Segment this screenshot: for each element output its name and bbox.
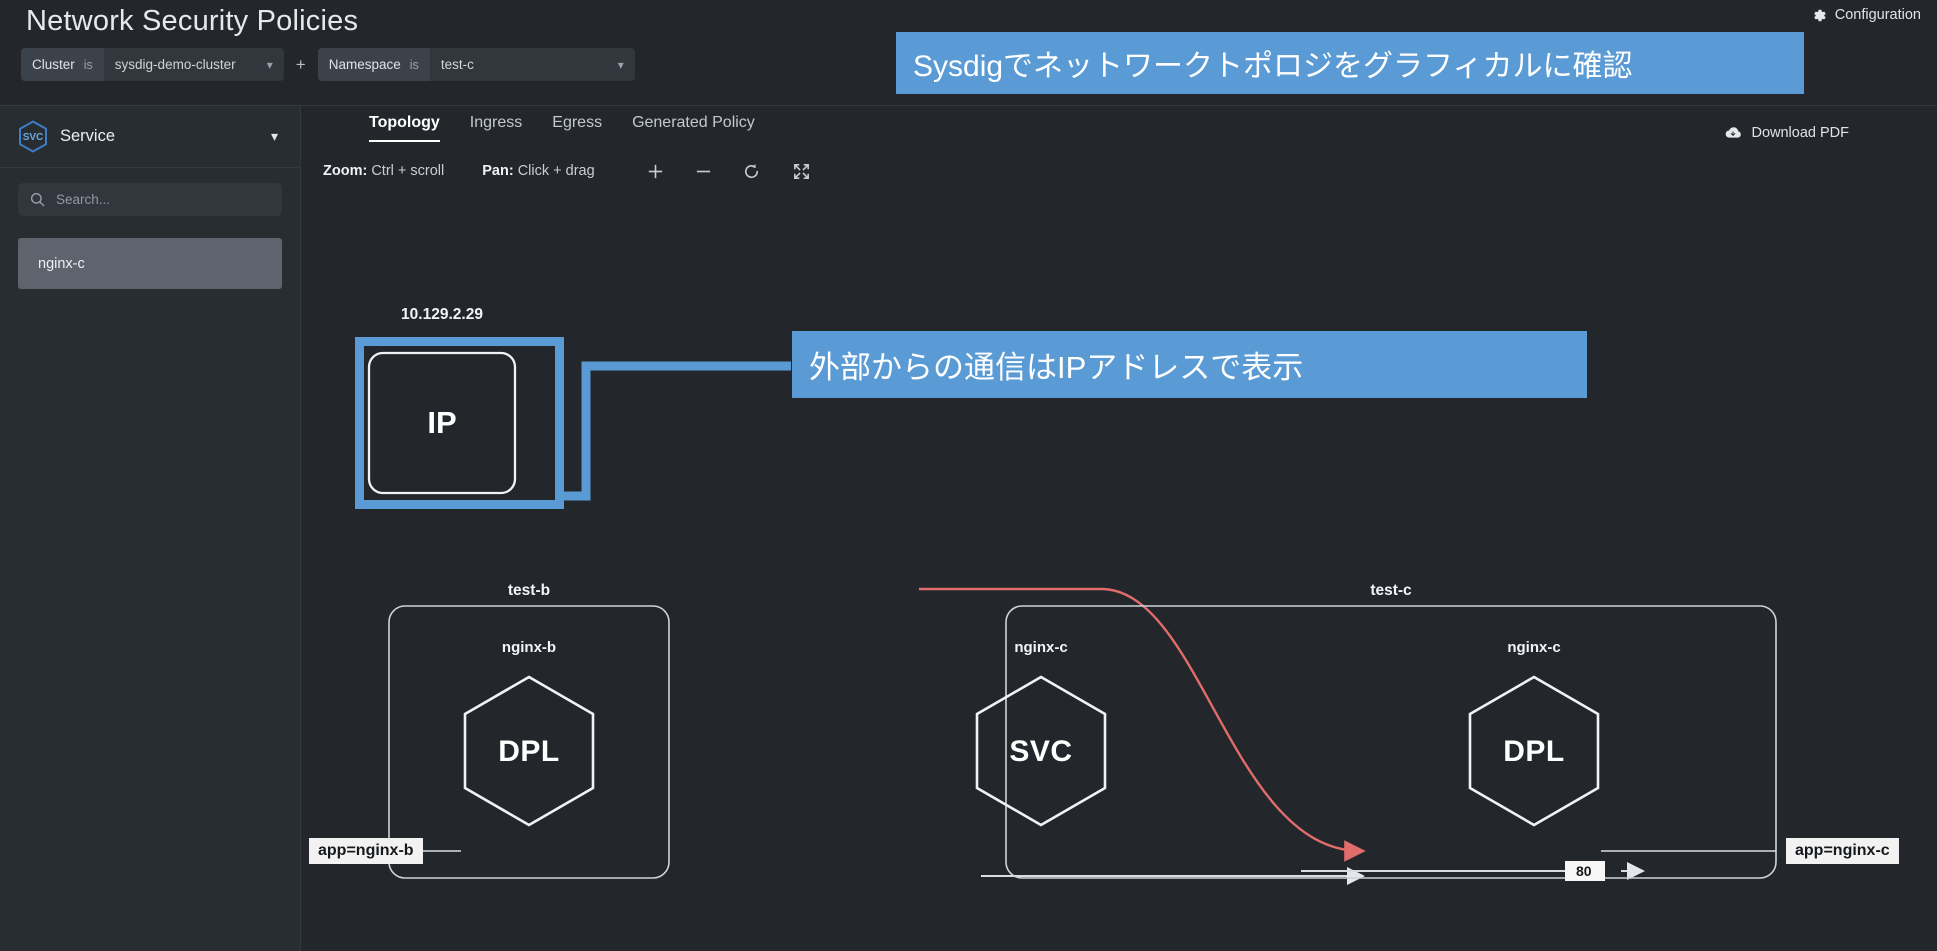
sidebar-type-label: Service (60, 127, 271, 146)
configuration-button[interactable]: Configuration (1812, 7, 1921, 23)
filter-cluster[interactable]: Cluster is sysdig-demo-cluster ▾ (21, 48, 284, 81)
sidebar-search-wrap (0, 168, 300, 216)
filter-namespace-operator: is (410, 58, 419, 72)
sidebar: SVC Service ▾ nginx-c (0, 105, 301, 951)
search-icon (30, 192, 45, 207)
annotation-highlight-ip-node (355, 337, 564, 509)
add-filter-button[interactable]: + (284, 55, 318, 75)
annotation-topology: Sysdigでネットワークトポロジをグラフィカルに確認 (896, 32, 1804, 94)
filter-namespace-value: test-c (441, 57, 474, 72)
port-chip-80: 80 (1565, 861, 1605, 881)
topology-canvas[interactable]: 10.129.2.29 IP test-b test-c nginx-b DPL… (301, 106, 1937, 951)
configuration-label: Configuration (1835, 7, 1921, 23)
search-box[interactable] (18, 183, 282, 216)
group-box-test-c (1006, 606, 1776, 878)
app-root: Network Security Policies Configuration … (0, 0, 1937, 951)
gear-icon (1812, 8, 1827, 23)
filter-cluster-value-wrap[interactable]: sysdig-demo-cluster ▾ (104, 48, 284, 81)
node-badge-dpl-c: DPL (1503, 735, 1565, 769)
annotation-ip-text: 外部からの通信はIPアドレスで表示 (809, 342, 1303, 387)
filter-namespace[interactable]: Namespace is test-c ▾ (318, 48, 635, 81)
filter-namespace-key: Namespace is (318, 48, 430, 81)
filter-cluster-key-label: Cluster (32, 57, 75, 72)
node-badge-dpl-b: DPL (498, 735, 560, 769)
filter-namespace-value-wrap[interactable]: test-c ▾ (430, 48, 635, 81)
search-input[interactable] (56, 192, 270, 207)
sidebar-service-list: nginx-c (0, 216, 300, 289)
sidebar-item-label: nginx-c (38, 256, 85, 272)
page-title: Network Security Policies (26, 5, 358, 38)
annotation-ip: 外部からの通信はIPアドレスで表示 (792, 331, 1587, 398)
sidebar-item-nginx-c[interactable]: nginx-c (18, 238, 282, 289)
group-label-test-c: test-c (1370, 582, 1411, 600)
annotation-topology-text: Sysdigでネットワークトポロジをグラフィカルに確認 (913, 41, 1632, 85)
label-chip-app-nginx-b: app=nginx-b (309, 838, 423, 864)
filter-cluster-value: sysdig-demo-cluster (115, 57, 236, 72)
node-label-nginx-c-svc: nginx-c (1014, 639, 1067, 656)
chevron-down-icon: ▾ (271, 128, 278, 145)
filter-cluster-key: Cluster is (21, 48, 104, 81)
chevron-down-icon: ▾ (618, 58, 624, 72)
node-label-nginx-c-dpl: nginx-c (1507, 639, 1560, 656)
ip-node-caption: 10.129.2.29 (401, 306, 483, 324)
edge-ip-to-svc (919, 589, 1361, 851)
label-chip-app-nginx-c: app=nginx-c (1786, 838, 1899, 864)
svg-text:SVC: SVC (23, 132, 44, 143)
sidebar-type-selector[interactable]: SVC Service ▾ (0, 106, 300, 168)
node-label-nginx-b: nginx-b (502, 639, 556, 656)
filter-cluster-operator: is (84, 58, 93, 72)
filter-bar: Cluster is sysdig-demo-cluster ▾ + Names… (21, 48, 635, 81)
group-label-test-b: test-b (508, 582, 550, 600)
filter-namespace-key-label: Namespace (329, 57, 401, 72)
service-hexagon-icon: SVC (18, 120, 48, 153)
node-badge-svc: SVC (1009, 735, 1072, 769)
main-panel: Topology Ingress Egress Generated Policy… (301, 105, 1937, 951)
topology-edges (301, 106, 1937, 951)
chevron-down-icon: ▾ (267, 58, 273, 72)
